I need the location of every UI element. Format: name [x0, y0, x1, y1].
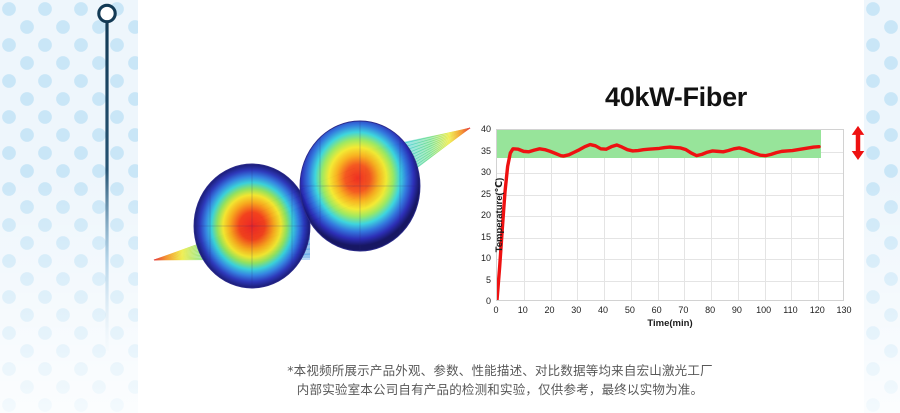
temperature-chart: 40kW-Fiber 0510152025303540 010203040506… — [455, 82, 855, 332]
plot-wrapper: 0510152025303540 01020304050607080901001… — [496, 129, 844, 301]
y-tick-label: 10 — [481, 253, 491, 263]
x-tick-label: 90 — [732, 305, 742, 315]
x-tick-label: 130 — [836, 305, 851, 315]
y-tick-label: 20 — [481, 210, 491, 220]
x-tick-label: 0 — [493, 305, 498, 315]
y-tick-label: 30 — [481, 167, 491, 177]
y-tick-label: 25 — [481, 189, 491, 199]
lens-element-right — [300, 121, 420, 251]
temperature-range-arrow-icon — [848, 125, 868, 161]
slide-canvas: 40kW-Fiber 0510152025303540 010203040506… — [0, 0, 900, 413]
x-tick-label: 50 — [625, 305, 635, 315]
disclaimer-line-1: *本视频所展示产品外观、参数、性能描述、对比数据等均来自宏山激光工厂 — [150, 361, 850, 380]
x-tick-label: 80 — [705, 305, 715, 315]
y-tick-label: 40 — [481, 124, 491, 134]
y-tick-label: 15 — [481, 232, 491, 242]
x-tick-label: 110 — [783, 305, 797, 315]
y-tick-label: 35 — [481, 146, 491, 156]
y-tick-label: 5 — [486, 275, 491, 285]
x-tick-label: 120 — [810, 305, 825, 315]
decorative-dot-panel-right — [864, 0, 900, 413]
disclaimer-line-2: 内部实验室本公司自有产品的检测和实验，仅供参考，最终以实物为准。 — [150, 380, 850, 399]
x-tick-label: 30 — [571, 305, 581, 315]
x-tick-label: 70 — [678, 305, 688, 315]
y-tick-label: 0 — [486, 296, 491, 306]
x-tick-label: 10 — [518, 305, 528, 315]
laser-optics-ray-trace-simulation — [140, 108, 480, 303]
chart-title: 40kW-Fiber — [455, 82, 855, 113]
x-axis-label: Time(min) — [496, 318, 844, 329]
x-tick-label: 60 — [652, 305, 662, 315]
y-axis-label: Temperature(℃) — [494, 178, 505, 253]
x-tick-label: 40 — [598, 305, 608, 315]
lens-element-left — [194, 164, 310, 288]
disclaimer-text: *本视频所展示产品外观、参数、性能描述、对比数据等均来自宏山激光工厂 内部实验室… — [150, 361, 850, 399]
x-tick-label: 20 — [545, 305, 555, 315]
decorative-dot-panel-left — [0, 0, 138, 413]
temperature-curve — [497, 130, 843, 301]
x-tick-label: 100 — [756, 305, 771, 315]
plot-area — [496, 129, 844, 301]
